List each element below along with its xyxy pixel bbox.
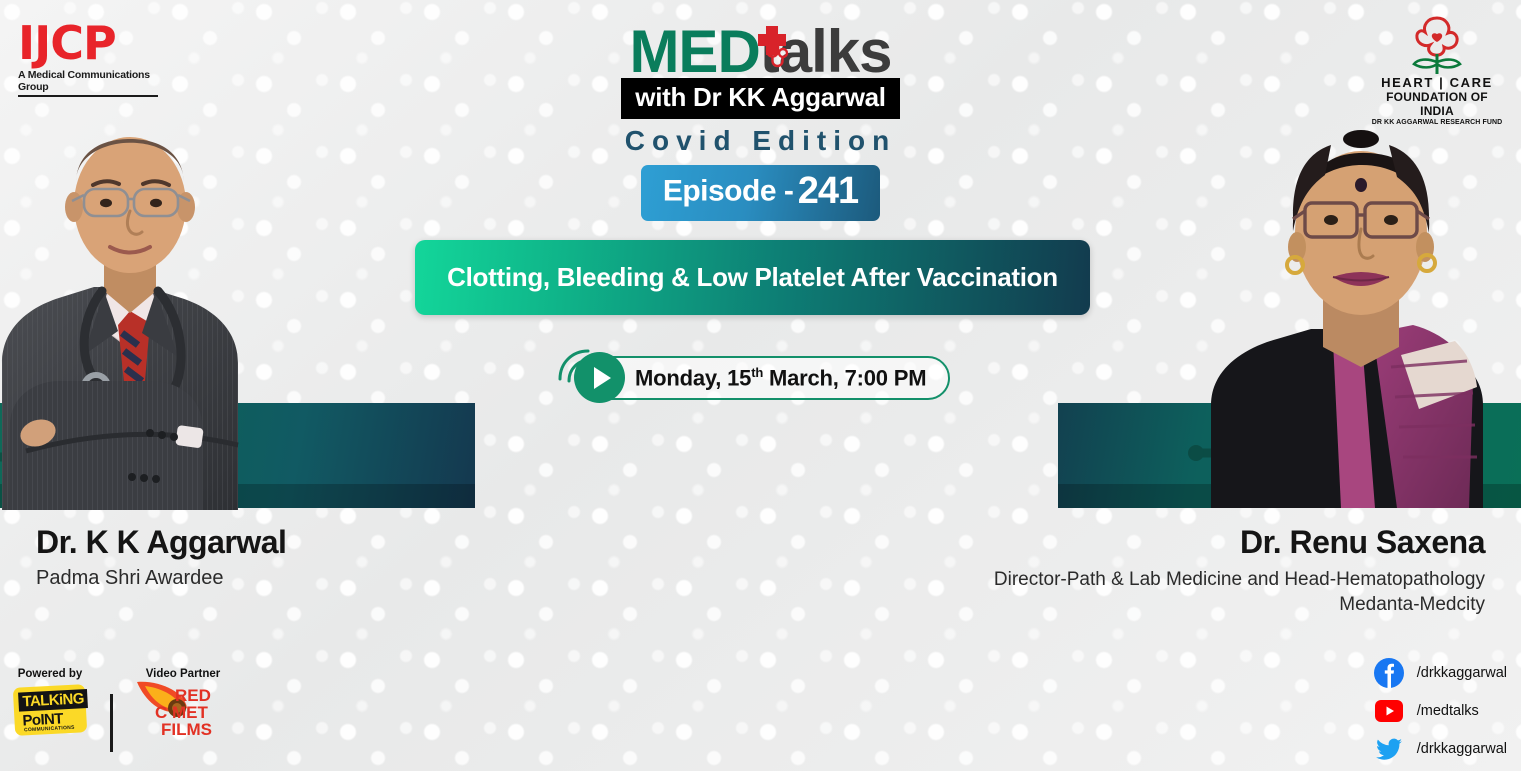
twitter-icon[interactable]: [1374, 734, 1404, 764]
partner-logos: Powered by TALKiNG PoINT COMMUNICATIONS …: [14, 668, 229, 752]
play-button-icon[interactable]: [574, 352, 625, 403]
speaker-left-info: Dr. K K Aggarwal Padma Shri Awardee: [36, 524, 286, 590]
episode-badge: Episode - 241: [641, 165, 880, 221]
speaker-photo-left: [0, 95, 307, 510]
wordmark-med: MED: [629, 18, 759, 85]
poster-canvas: IJCP A Medical Communications Group HEAR…: [0, 0, 1521, 771]
powered-by-group: Powered by TALKiNG PoINT COMMUNICATIONS: [14, 668, 86, 734]
episode-number: 241: [798, 170, 858, 212]
speaker-right-info: Dr. Renu Saxena Director-Path & Lab Medi…: [994, 524, 1485, 617]
social-row-facebook[interactable]: /drkkaggarwal: [1374, 658, 1507, 688]
topic-title: Clotting, Bleeding & Low Platelet After …: [431, 262, 1074, 293]
speaker-right-title-2: Medanta-Medcity: [994, 592, 1485, 617]
speaker-right-title-1: Director-Path & Lab Medicine and Head-He…: [994, 567, 1485, 592]
facebook-handle: /drkkaggarwal: [1417, 665, 1507, 681]
social-row-twitter[interactable]: /drkkaggarwal: [1374, 734, 1507, 764]
rcf-line3: FILMS: [161, 720, 212, 740]
talking-point-line1: TALKiNG: [18, 689, 88, 712]
youtube-handle: /medtalks: [1417, 703, 1479, 719]
schedule-pill: Monday, 15th March, 7:00 PM: [579, 356, 950, 400]
twitter-handle: /drkkaggarwal: [1417, 741, 1507, 757]
speaker-right-name: Dr. Renu Saxena: [994, 524, 1485, 561]
social-row-youtube[interactable]: /medtalks: [1374, 696, 1507, 726]
schedule-block: Monday, 15th March, 7:00 PM: [552, 345, 962, 411]
youtube-icon[interactable]: [1374, 696, 1404, 726]
topic-banner: Clotting, Bleeding & Low Platelet After …: [415, 240, 1090, 315]
red-comet-films-logo: RED C MET FILMS: [137, 686, 229, 738]
episode-label: Episode -: [663, 175, 794, 208]
speaker-left-title: Padma Shri Awardee: [36, 567, 286, 590]
talking-point-line3: COMMUNICATIONS: [24, 725, 75, 734]
speaker-photo-right: [1205, 105, 1521, 508]
talking-point-logo: TALKiNG PoINT COMMUNICATIONS: [13, 684, 87, 736]
schedule-text: Monday, 15th March, 7:00 PM: [635, 365, 926, 391]
speaker-left-name: Dr. K K Aggarwal: [36, 524, 286, 561]
partner-divider: [110, 694, 113, 752]
video-partner-group: Video Partner RED C MET FILMS: [137, 668, 229, 738]
stethoscope-cross-icon: [753, 18, 795, 78]
medtalks-wordmark: MEDtalks: [629, 22, 891, 82]
facebook-icon[interactable]: [1374, 658, 1404, 688]
powered-by-label: Powered by: [14, 668, 86, 680]
social-links: /drkkaggarwal /medtalks /drkkaggarwal: [1374, 658, 1507, 771]
